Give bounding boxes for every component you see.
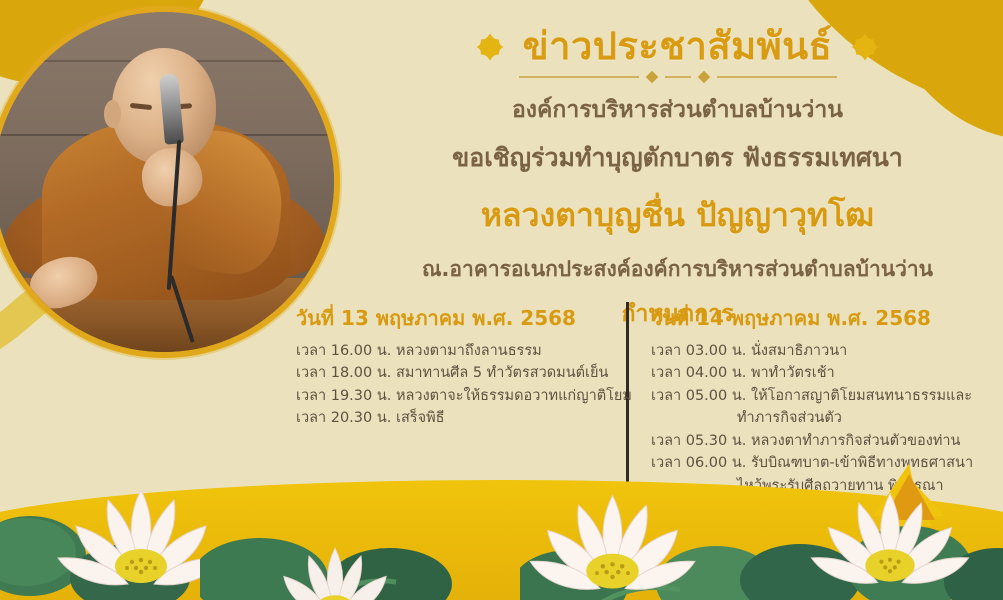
- poster-canvas: ข่าวประชาสัมพันธ์ องค์การบริหารส่วนตำบลบ…: [0, 0, 1003, 600]
- schedule-item: เวลา 05.30 น. หลวงตาทำภารกิจส่วนตัวของท่…: [651, 430, 973, 452]
- lotus-flower-4: [800, 476, 980, 600]
- schedule-item: เวลา 19.30 น. หลวงตาจะให้ธรรมดอวาทแก่ญาต…: [296, 385, 604, 407]
- schedule-item: เวลา 16.00 น. หลวงตามาถึงลานธรรม: [296, 340, 604, 362]
- title-row: ข่าวประชาสัมพันธ์: [352, 0, 1003, 68]
- page-title: ข่าวประชาสัมพันธ์: [523, 26, 833, 68]
- venue-line: ณ.อาคารอเนกประสงค์องค์การบริหารส่วนตำบลบ…: [352, 253, 1003, 286]
- invitation-line: ขอเชิญร่วมทำบุญตักบาตร ฟังธรรมเทศนา: [352, 138, 1003, 178]
- schedule-item: เวลา 03.00 น. นั่งสมาธิภาวนา: [651, 340, 973, 362]
- schedule-item: เวลา 20.30 น. เสร็จพิธี: [296, 407, 604, 429]
- title-decorative-rule: [352, 70, 1003, 84]
- rule-diamond-left-icon: [645, 70, 659, 84]
- day1-date-heading: วันที่ 13 พฤษภาคม พ.ศ. 2568: [296, 302, 604, 334]
- rule-diamond-right-icon: [697, 70, 711, 84]
- schedule-item-text: เวลา 19.30 น. หลวงตาจะให้ธรรมดอวาทแก่ญาต…: [296, 388, 632, 404]
- schedule-item-text: เวลา 16.00 น. หลวงตามาถึงลานธรรม: [296, 343, 542, 359]
- schedule-item-continuation: ทำภารกิจส่วนตัว: [651, 407, 973, 429]
- schedule-item: เวลา 05.00 น. ให้โอกาสญาติโยมสนทนาธรรมแล…: [651, 385, 973, 430]
- schedule-column-day1: วันที่ 13 พฤษภาคม พ.ศ. 2568 เวลา 16.00 น…: [296, 302, 626, 430]
- rule-bar-middle: [665, 76, 691, 78]
- schedule-item-text: เวลา 18.00 น. สมาทานศีล 5 ทำวัตรสวดมนต์เ…: [296, 365, 608, 381]
- schedule-item-text: เวลา 05.00 น. ให้โอกาสญาติโยมสนทนาธรรมแล…: [651, 388, 972, 404]
- schedule-item: เวลา 04.00 น. พาทำวัตรเช้า: [651, 362, 973, 384]
- schedule-item-text: เวลา 20.30 น. เสร็จพิธี: [296, 410, 444, 426]
- schedule-item-text: เวลา 03.00 น. นั่งสมาธิภาวนา: [651, 343, 847, 359]
- schedule-item-text: เวลา 04.00 น. พาทำวัตรเช้า: [651, 365, 835, 381]
- day2-date-heading: วันที่ 14 พฤษภาคม พ.ศ. 2568: [651, 302, 973, 334]
- rule-bar-right: [717, 76, 837, 78]
- schedule-item: เวลา 18.00 น. สมาทานศีล 5 ทำวัตรสวดมนต์เ…: [296, 362, 604, 384]
- quatrefoil-ornament-right-icon: [850, 32, 880, 62]
- rule-bar-left: [519, 76, 639, 78]
- quatrefoil-ornament-left-icon: [475, 32, 505, 62]
- monk-ear: [104, 100, 121, 128]
- lotus-flower-2: [260, 530, 410, 600]
- monk-name: หลวงตาบุญชื่น ปัญญาวุทโฒ: [352, 190, 1003, 241]
- monk-photo-ring: [0, 6, 340, 358]
- schedule-item-text: เวลา 05.30 น. หลวงตาทำภารกิจส่วนตัวของท่…: [651, 433, 960, 449]
- header-block: ข่าวประชาสัมพันธ์ องค์การบริหารส่วนตำบลบ…: [352, 0, 1003, 332]
- monk-photo: [0, 12, 334, 352]
- lotus-flower-3: [520, 480, 705, 600]
- organization-name: องค์การบริหารส่วนตำบลบ้านว่าน: [352, 92, 1003, 128]
